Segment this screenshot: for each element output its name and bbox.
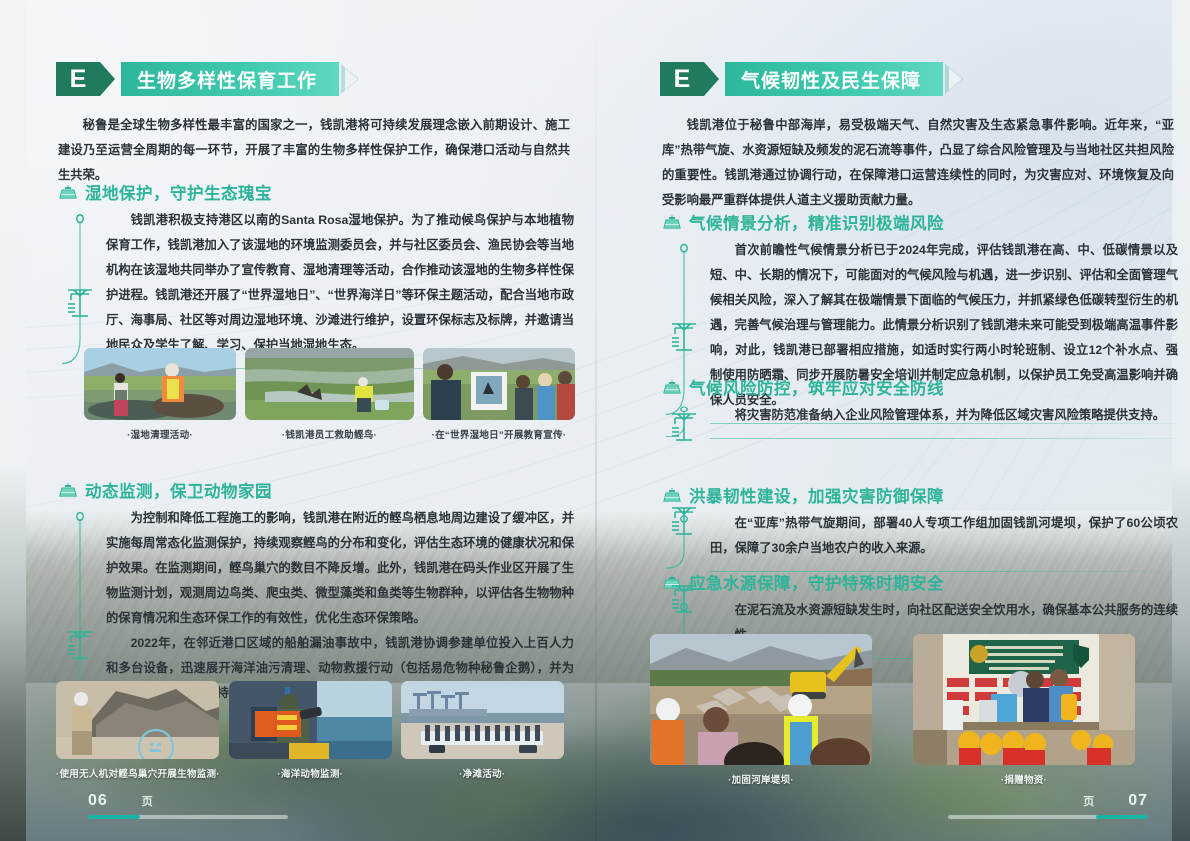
right-page: E 气候韧性及民生保障 钱凯港位于秘鲁中部海岸，易受极端天气、自然灾害及生态紧急… — [640, 0, 1190, 841]
right-intro-paragraph: 钱凯港位于秘鲁中部海岸，易受极端天气、自然灾害及生态紧急事件影响。近年来，“亚库… — [662, 113, 1174, 213]
wetland-cleanup-photo — [84, 348, 236, 420]
left-page-footer: 06 页 — [88, 792, 288, 819]
right-subsection-3-body: 在“亚库”热带气旋期间，部署40人专项工作组加固钱凯河堤坝，保护了60公顷农田，… — [662, 511, 1178, 572]
chevron-right-icon-right — [945, 62, 967, 96]
right-subsection-4-heading: 应急水源保障，守护特殊时期安全 — [662, 570, 1178, 594]
photo-caption: ·湿地清理活动· — [84, 427, 236, 441]
photo-caption: ·在“世界湿地日”开展教育宣传· — [423, 427, 575, 441]
right-subsection-2: 气候风险防控，筑牢应对安全防线 将灾害防范准备纳入企业风险管理体系，并为降低区域… — [662, 375, 1178, 439]
paragraph: 钱凯港积极支持港区以南的Santa Rosa湿地保护。为了推动候鸟保护与本地植物… — [106, 208, 574, 358]
shipping-container-icon — [662, 380, 682, 394]
photo-item: ·在“世界湿地日”开展教育宣传· — [423, 348, 575, 441]
beach-cleanup-photo — [401, 681, 564, 759]
shipping-container-icon — [58, 185, 78, 199]
port-crane-icon-2 — [58, 624, 102, 666]
right-page-footer: 页 07 — [948, 792, 1148, 819]
photo-caption: ·净滩活动· — [401, 766, 564, 780]
port-crane-icon-3 — [662, 316, 706, 358]
photo-item: ·湿地清理活动· — [84, 348, 236, 441]
left-subsection-2-text: 为控制和降低工程施工的影响，钱凯港在附近的鲣鸟栖息地周边建设了缓冲区，并实施每周… — [106, 506, 574, 706]
brochure-spread: E 生物多样性保育工作 秘鲁是全球生物多样性最丰富的国家之一，钱凯港将可持续发展… — [0, 0, 1190, 841]
right-page-number: 07 — [1128, 792, 1148, 810]
right-subsection-1-title: 气候情景分析，精准识别极端风险 — [689, 210, 944, 234]
wetland-day-education-photo — [423, 348, 575, 420]
chevron-right-icon-left — [341, 62, 363, 96]
photo-caption: ·使用无人机对鲣鸟巢穴开展生物监测· — [56, 766, 220, 780]
port-crane-icon-6 — [662, 578, 706, 620]
paragraph: 为控制和降低工程施工的影响，钱凯港在附近的鲣鸟栖息地周边建设了缓冲区，并实施每周… — [106, 506, 574, 631]
right-subsection-3: 洪暴韧性建设，加强灾害防御保障 在“亚库”热带气旋期间，部署40人专项工作组加固… — [662, 483, 1178, 572]
riverbank-reinforcement-photo — [650, 634, 872, 765]
photo-caption: ·钱凯港员工救助鲣鸟· — [245, 427, 414, 441]
photo-item: ·捐赠物资· — [913, 634, 1135, 786]
left-photo-row-bottom: ·使用无人机对鲣鸟巢穴开展生物监测· — [56, 681, 564, 780]
bird-rescue-photo — [245, 348, 414, 420]
section-divider — [710, 438, 1178, 439]
section-badge-letter-left: E — [56, 62, 100, 96]
left-intro-paragraph: 秘鲁是全球生物多样性最丰富的国家之一，钱凯港将可持续发展理念嵌入前期设计、施工建… — [58, 113, 570, 188]
left-subsection-1-heading: 湿地保护，守护生态瑰宝 — [58, 180, 574, 204]
right-subsection-2-title: 气候风险防控，筑牢应对安全防线 — [689, 375, 944, 399]
section-badge-title-right: 气候韧性及民生保障 — [725, 62, 943, 96]
right-page-label: 页 — [1083, 793, 1094, 809]
left-gutter — [0, 0, 26, 841]
drone-nest-monitoring-photo — [56, 681, 219, 759]
photo-item: ·加固河岸堤坝· — [650, 634, 872, 786]
photo-caption: ·捐赠物资· — [913, 772, 1135, 786]
port-crane-icon-4 — [662, 406, 706, 448]
right-subsection-3-title: 洪暴韧性建设，加强灾害防御保障 — [689, 483, 944, 507]
right-subsection-2-heading: 气候风险防控，筑牢应对安全防线 — [662, 375, 1178, 399]
port-crane-icon-5 — [662, 500, 706, 542]
left-page-number: 06 — [88, 792, 108, 810]
photo-caption: ·加固河岸堤坝· — [650, 772, 872, 786]
shipping-container-icon — [662, 215, 682, 229]
paragraph: 在“亚库”热带气旋期间，部署40人专项工作组加固钱凯河堤坝，保护了60公顷农田，… — [710, 511, 1178, 561]
section-badge-title-left: 生物多样性保育工作 — [121, 62, 339, 96]
right-subsection-3-text: 在“亚库”热带气旋期间，部署40人专项工作组加固钱凯河堤坝，保护了60公顷农田，… — [710, 511, 1178, 561]
photo-item: ·使用无人机对鲣鸟巢穴开展生物监测· — [56, 681, 220, 780]
left-subsection-2-title: 动态监测，保卫动物家园 — [85, 478, 272, 502]
right-page-progress-bar — [948, 815, 1148, 819]
left-subsection-1-text: 钱凯港积极支持港区以南的Santa Rosa湿地保护。为了推动候鸟保护与本地植物… — [106, 208, 574, 358]
right-subsection-3-heading: 洪暴韧性建设，加强灾害防御保障 — [662, 483, 1178, 507]
supply-donation-photo — [913, 634, 1135, 765]
marine-animal-monitoring-photo — [229, 681, 392, 759]
shipping-container-icon — [58, 483, 78, 497]
photo-item: ·钱凯港员工救助鲣鸟· — [245, 348, 414, 441]
left-subsection-1-title: 湿地保护，守护生态瑰宝 — [85, 180, 272, 204]
left-subsection-2-heading: 动态监测，保卫动物家园 — [58, 478, 574, 502]
right-subsection-4-title: 应急水源保障，守护特殊时期安全 — [689, 570, 944, 594]
left-photo-row-top: ·湿地清理活动· — [84, 348, 575, 441]
port-crane-icon-1 — [58, 282, 102, 324]
section-badge-left: E 生物多样性保育工作 — [56, 62, 363, 96]
right-photo-row-bottom: ·加固河岸堤坝· — [650, 634, 1135, 786]
section-badge-right: E 气候韧性及民生保障 — [660, 62, 967, 96]
left-page-label: 页 — [142, 793, 153, 809]
paragraph: 将灾害防范准备纳入企业风险管理体系，并为降低区域灾害风险策略提供支持。 — [710, 403, 1178, 428]
left-page: E 生物多样性保育工作 秘鲁是全球生物多样性最丰富的国家之一，钱凯港将可持续发展… — [36, 0, 596, 841]
left-subsection-1-body: 钱凯港积极支持港区以南的Santa Rosa湿地保护。为了推动候鸟保护与本地植物… — [58, 208, 574, 369]
right-subsection-1-heading: 气候情景分析，精准识别极端风险 — [662, 210, 1178, 234]
right-subsection-2-body: 将灾害防范准备纳入企业风险管理体系，并为降低区域灾害风险策略提供支持。 — [662, 403, 1178, 439]
section-badge-letter-right: E — [660, 62, 704, 96]
right-subsection-2-text: 将灾害防范准备纳入企业风险管理体系，并为降低区域灾害风险策略提供支持。 — [710, 403, 1178, 428]
photo-item: ·海洋动物监测· — [229, 681, 392, 780]
left-subsection-1: 湿地保护，守护生态瑰宝 钱凯港积极支持港区以南的Santa Rosa湿地保护。为… — [58, 180, 574, 369]
photo-item: ·净滩活动· — [401, 681, 564, 780]
left-page-progress-bar — [88, 815, 288, 819]
photo-caption: ·海洋动物监测· — [229, 766, 392, 780]
